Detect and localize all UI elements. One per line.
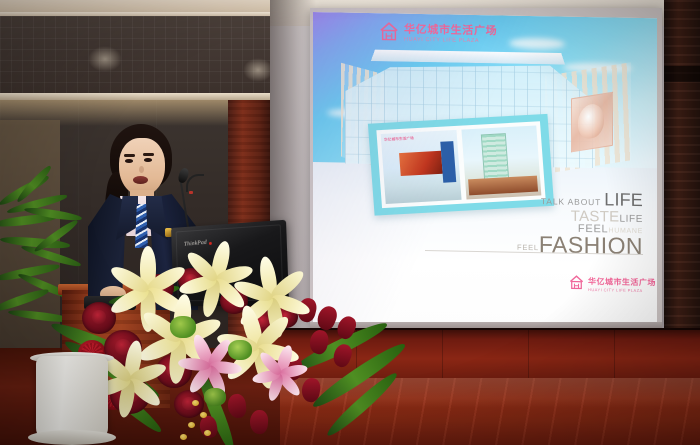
- tile-highlight: [243, 58, 273, 82]
- tagline-life: LIFE: [604, 189, 643, 210]
- brand-name-en: HUAYI CITY LIFE PLAZA: [588, 288, 656, 293]
- brand-name-en: HUAYI CITY LIFE PLAZA: [404, 38, 497, 45]
- tagline-line-4: FEELFASHION: [481, 230, 643, 260]
- brand-name-cn: 华亿城市生活广场: [588, 278, 656, 287]
- slide-logo-top: 华亿城市生活广场 HUAYI CITY LIFE PLAZA: [378, 21, 497, 48]
- facade-billboard: [571, 92, 613, 153]
- vase-foot: [28, 430, 116, 445]
- brand-name-cn: 华亿城市生活广场: [404, 25, 497, 38]
- tile-band-trim: [0, 93, 312, 100]
- striped-tie: [135, 204, 148, 248]
- right-wood-column: [664, 0, 700, 352]
- tile-highlight: [88, 46, 122, 72]
- right-column-band: [664, 66, 700, 82]
- photo-scene: 华亿城市生活广场 HUAYI CITY LIFE PLAZA 华亿城市生活广场 …: [0, 0, 700, 445]
- tagline-talk-about: TALK ABOUT: [541, 196, 601, 207]
- project-photo-left: 华亿城市生活广场: [381, 130, 461, 204]
- nose: [139, 166, 144, 173]
- tagline-fashion: FASHION: [539, 231, 643, 259]
- microphone-ring: [189, 191, 193, 194]
- inset-brand-label: 华亿城市生活广场: [384, 136, 414, 143]
- mouth-speaking: [133, 176, 148, 184]
- huayi-logo-icon: [378, 21, 400, 46]
- tagline-feel-2: FEEL: [517, 243, 539, 252]
- slide-tagline: TALK ABOUT LIFE TASTELIFE FEELHUMANE FEE…: [481, 187, 643, 260]
- mosaic-tile-band: [0, 16, 312, 96]
- huayi-logo-icon: [568, 275, 585, 295]
- slide-logo-bottom: 华亿城市生活广场 HUAYI CITY LIFE PLAZA: [568, 275, 656, 297]
